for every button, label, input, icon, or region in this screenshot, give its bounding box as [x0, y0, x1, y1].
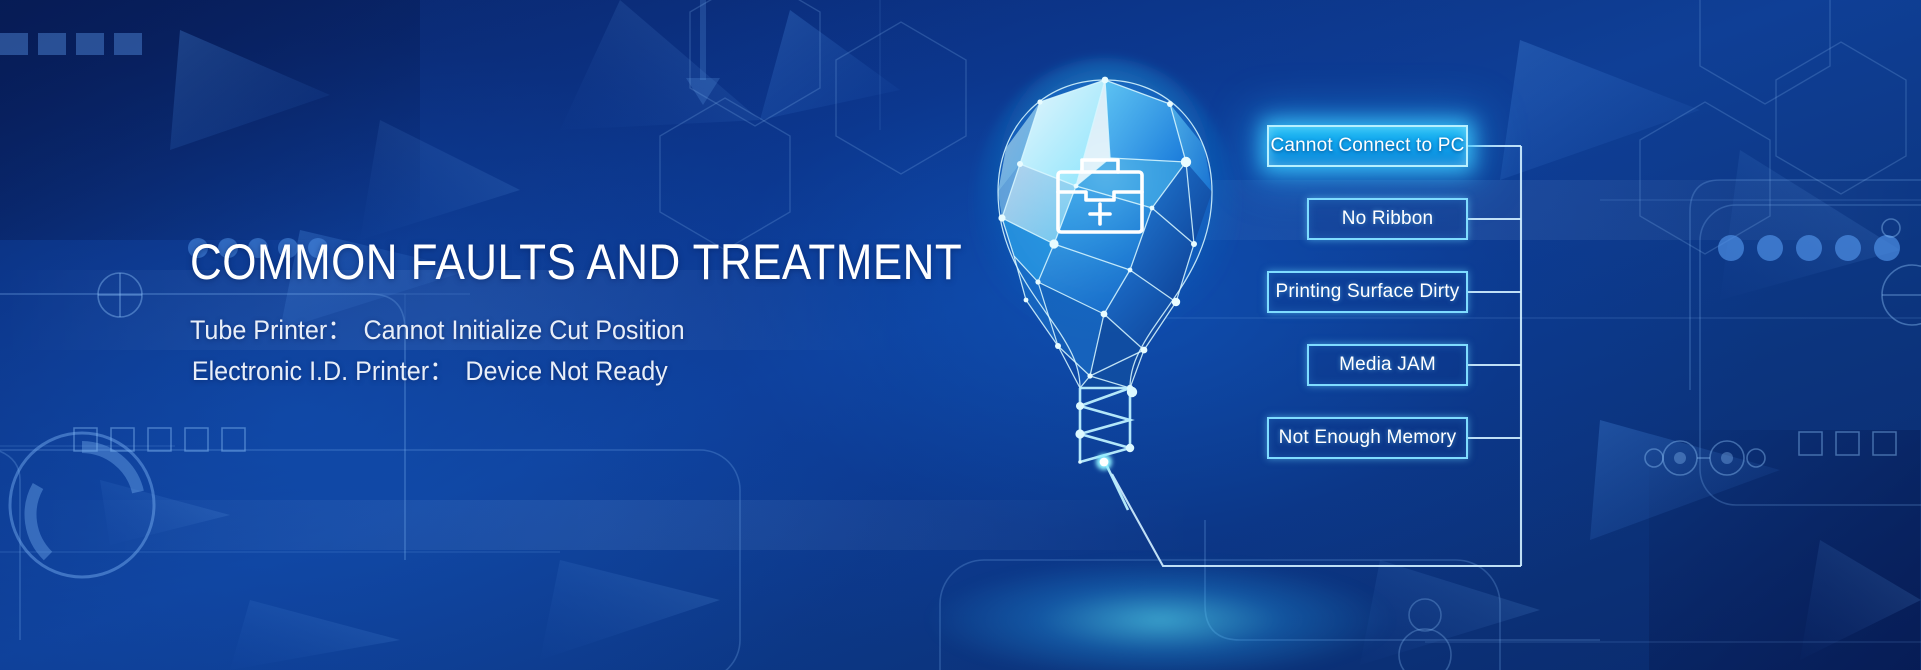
fault-item-not-enough-memory[interactable]: Not Enough Memory	[1267, 417, 1468, 459]
subtitle-label: Electronic I.D. Printer	[192, 356, 429, 386]
fault-item-label: No Ribbon	[1342, 208, 1434, 230]
subtitle-value: Device Not Ready	[465, 356, 667, 386]
subtitle-value: Cannot Initialize Cut Position	[364, 315, 685, 345]
fault-item-label: Cannot Connect to PC	[1270, 135, 1464, 157]
floor-glow	[930, 560, 1390, 670]
fault-item-no-ribbon[interactable]: No Ribbon	[1307, 198, 1468, 240]
fault-item-label: Not Enough Memory	[1279, 427, 1457, 449]
fault-item-label: Printing Surface Dirty	[1276, 281, 1460, 303]
fault-item-label: Media JAM	[1339, 354, 1436, 376]
banner-root: COMMON FAULTS AND TREATMENT Tube Printer…	[0, 0, 1921, 670]
light-bulb-illustration	[980, 58, 1230, 478]
page-title: COMMON FAULTS AND TREATMENT	[190, 236, 962, 289]
subtitle-label: Tube Printer	[190, 315, 327, 345]
fault-item-cannot-connect-to-pc[interactable]: Cannot Connect to PC	[1267, 125, 1468, 167]
subtitle-row: Tube Printer：Cannot Initialize Cut Posit…	[190, 311, 1006, 349]
fault-item-media-jam[interactable]: Media JAM	[1307, 344, 1468, 386]
fault-item-printing-surface-dirty[interactable]: Printing Surface Dirty	[1267, 271, 1468, 313]
subtitle-list: Tube Printer：Cannot Initialize Cut Posit…	[190, 311, 1006, 391]
subtitle-separator: ：	[429, 356, 456, 386]
subtitle-row: Electronic I.D. Printer：Device Not Ready	[192, 352, 1006, 390]
subtitle-separator: ：	[327, 315, 354, 345]
banner-text-block: COMMON FAULTS AND TREATMENT Tube Printer…	[190, 236, 1067, 391]
